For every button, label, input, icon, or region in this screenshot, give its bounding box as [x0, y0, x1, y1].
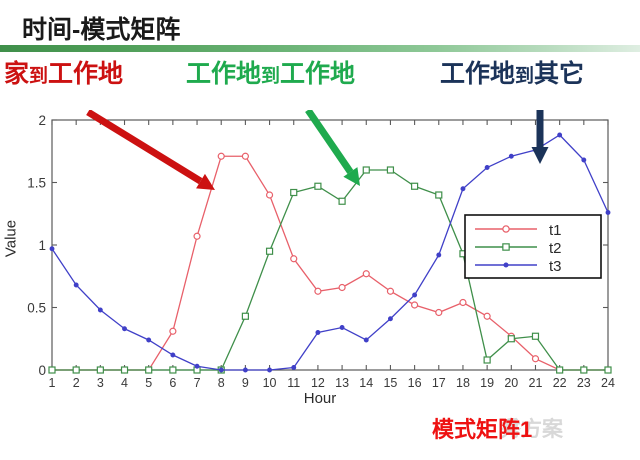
data-point — [171, 353, 175, 357]
data-point — [508, 336, 514, 342]
x-tick-label: 12 — [311, 376, 325, 390]
data-point — [581, 367, 587, 373]
data-point — [316, 331, 320, 335]
data-point — [387, 288, 393, 294]
data-point — [436, 310, 442, 316]
data-point — [387, 167, 393, 173]
data-point — [267, 192, 273, 198]
x-tick-label: 21 — [529, 376, 543, 390]
legend-label: t1 — [549, 222, 562, 239]
annotation-text-main-2: 工作地 — [280, 60, 355, 88]
title-divider — [0, 45, 640, 52]
data-point — [195, 364, 199, 368]
x-tick-label: 6 — [169, 376, 176, 390]
data-point — [49, 367, 55, 373]
x-tick-label: 8 — [218, 376, 225, 390]
data-point — [98, 308, 102, 312]
data-point — [291, 256, 297, 262]
x-tick-label: 16 — [408, 376, 422, 390]
data-point — [219, 368, 223, 372]
data-point — [147, 338, 151, 342]
data-point — [509, 154, 513, 158]
annotation-text-main-1: 工作地 — [186, 60, 261, 88]
data-point — [267, 248, 273, 254]
data-point — [413, 293, 417, 297]
data-point — [170, 367, 176, 373]
data-point — [291, 190, 297, 196]
data-point — [242, 313, 248, 319]
y-tick-label: 0 — [38, 363, 46, 378]
x-tick-label: 19 — [480, 376, 494, 390]
y-tick-label: 1 — [38, 238, 46, 253]
annotation-label-home-to-work: 家到工作地 — [4, 62, 123, 87]
legend-label: t2 — [549, 240, 562, 257]
x-tick-label: 13 — [335, 376, 349, 390]
data-point — [503, 244, 509, 250]
annotation-label-work-to-other: 工作地到其它 — [440, 62, 584, 87]
data-point — [484, 313, 490, 319]
data-point — [485, 166, 489, 170]
data-point — [146, 367, 152, 373]
x-tick-label: 17 — [432, 376, 446, 390]
page-title: 时间-模式矩阵 — [22, 10, 180, 46]
chart-legend: t1t2t3 — [465, 215, 601, 278]
annotation-text-connector: 到 — [515, 66, 534, 87]
data-point — [339, 198, 345, 204]
footer-tag: 模式矩阵1 — [432, 412, 532, 444]
data-point — [412, 302, 418, 308]
y-tick-label: 2 — [38, 113, 46, 128]
slide-root: 时间-模式矩阵 家到工作地 工作地到工作地 工作地到其它 12345678910… — [0, 0, 640, 460]
x-tick-label: 24 — [601, 376, 615, 390]
annotation-text-main-2: 工作地 — [48, 60, 123, 88]
x-tick-label: 1 — [49, 376, 56, 390]
data-point — [532, 356, 538, 362]
data-point — [315, 183, 321, 189]
data-point — [412, 183, 418, 189]
annotation-text-main-1: 家 — [4, 60, 29, 88]
data-point — [97, 367, 103, 373]
data-point — [436, 192, 442, 198]
data-point — [437, 253, 441, 257]
data-point — [532, 333, 538, 339]
data-point — [364, 338, 368, 342]
data-point — [123, 327, 127, 331]
x-tick-label: 2 — [73, 376, 80, 390]
data-point — [484, 357, 490, 363]
x-tick-label: 11 — [287, 376, 300, 390]
data-point — [339, 285, 345, 291]
data-point — [503, 226, 509, 232]
annotation-text-connector: 到 — [261, 66, 280, 87]
data-point — [194, 233, 200, 239]
data-point — [292, 366, 296, 370]
data-point — [363, 271, 369, 277]
x-tick-label: 14 — [359, 376, 373, 390]
annotation-text-main-2: 其它 — [534, 60, 584, 88]
legend-label: t3 — [549, 258, 562, 275]
data-point — [461, 187, 465, 191]
annotation-label-work-to-work: 工作地到工作地 — [186, 62, 355, 87]
line-chart: 123456789101112131415161718192021222324 … — [0, 110, 640, 410]
data-point — [122, 367, 128, 373]
annotation-text-connector: 到 — [29, 66, 48, 87]
data-point — [50, 247, 54, 251]
data-point — [605, 367, 611, 373]
x-tick-label: 10 — [263, 376, 277, 390]
x-tick-label: 23 — [577, 376, 591, 390]
arrow-home-to-work — [88, 112, 215, 190]
annotation-text-main-1: 工作地 — [440, 60, 515, 88]
x-tick-label: 9 — [242, 376, 249, 390]
data-point — [218, 153, 224, 159]
data-point — [460, 300, 466, 306]
y-tick-label: 1.5 — [27, 176, 46, 191]
data-point — [582, 158, 586, 162]
x-tick-label: 15 — [383, 376, 397, 390]
arrow-work-to-other — [532, 110, 549, 164]
x-tick-label: 3 — [97, 376, 104, 390]
data-point — [268, 368, 272, 372]
y-tick-label: 0.5 — [27, 301, 46, 316]
data-point — [363, 167, 369, 173]
x-tick-label: 4 — [121, 376, 128, 390]
x-tick-label: 22 — [553, 376, 567, 390]
data-point — [73, 367, 79, 373]
data-point — [315, 288, 321, 294]
data-point — [504, 263, 508, 267]
arrow-work-to-work — [308, 110, 360, 186]
x-tick-label: 7 — [194, 376, 201, 390]
y-axis-label: Value — [3, 204, 20, 274]
data-point — [557, 367, 563, 373]
data-point — [242, 153, 248, 159]
data-point — [558, 133, 562, 137]
data-point — [389, 317, 393, 321]
x-tick-label: 20 — [504, 376, 518, 390]
data-point — [243, 368, 247, 372]
x-axis-label: Hour — [0, 390, 640, 407]
x-tick-label: 18 — [456, 376, 470, 390]
data-point — [170, 328, 176, 334]
annotation-arrows — [88, 110, 549, 190]
data-point — [606, 211, 610, 215]
data-point — [340, 326, 344, 330]
data-point — [74, 283, 78, 287]
x-tick-label: 5 — [145, 376, 152, 390]
chart-canvas: 123456789101112131415161718192021222324 … — [0, 110, 640, 410]
